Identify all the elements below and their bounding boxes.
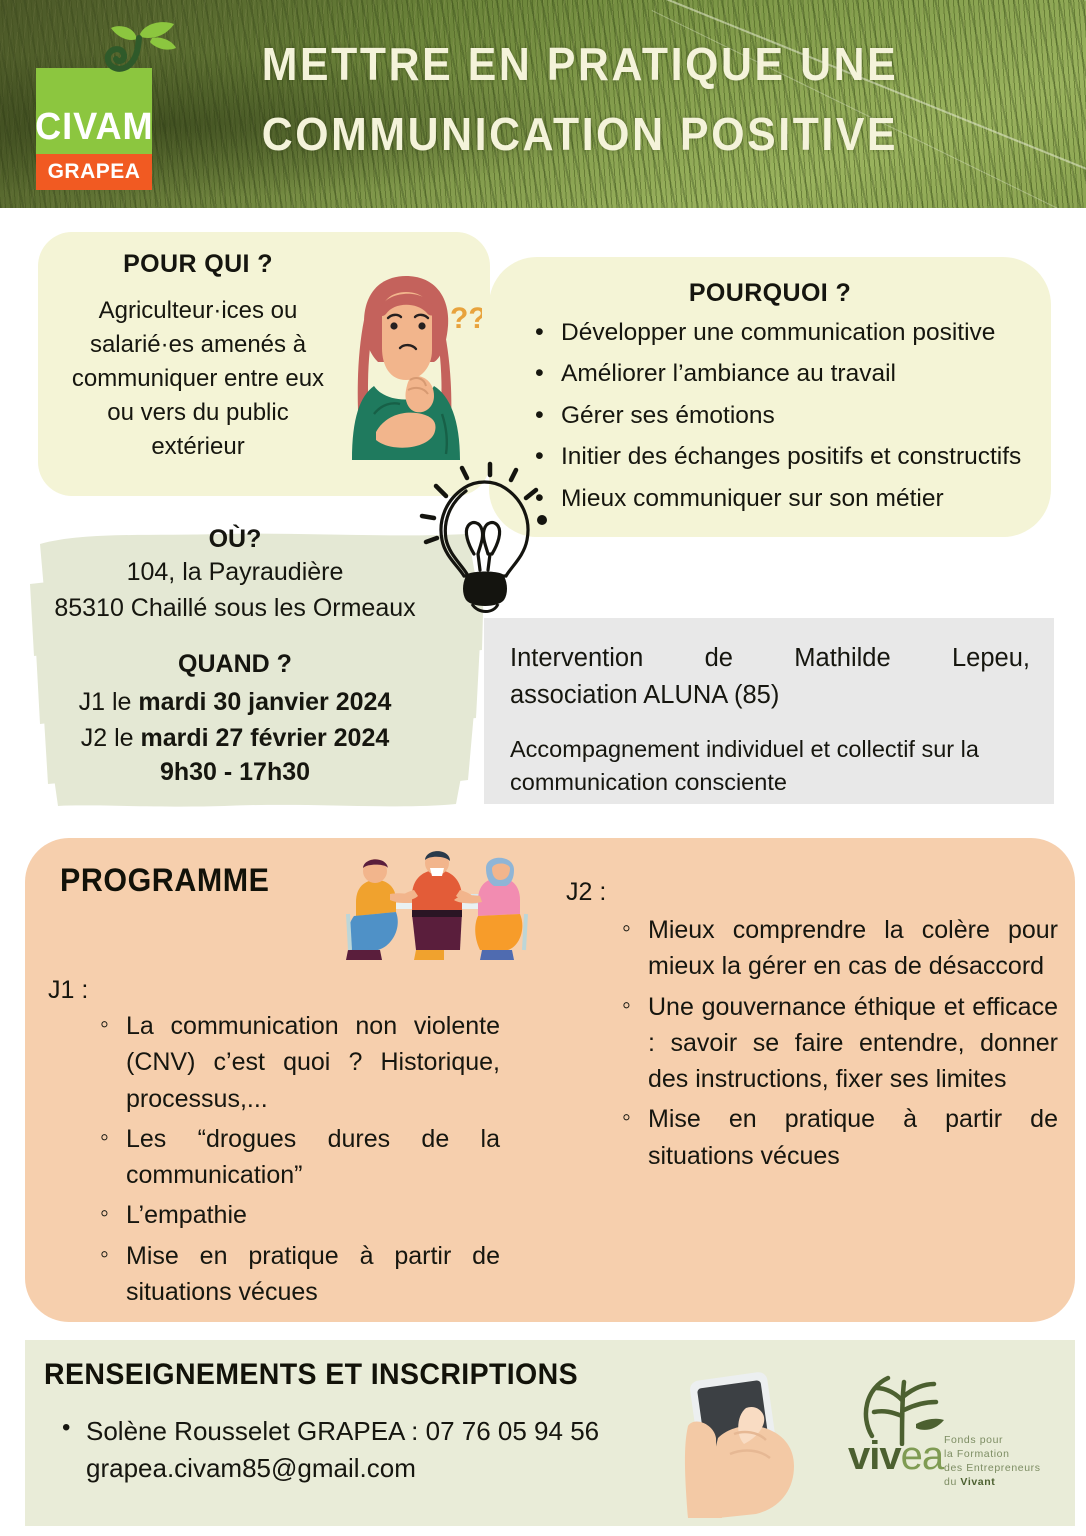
list-item: Mise en pratique à partir de situations … [622, 1101, 1058, 1174]
pour-qui-card: POUR QUI ? Agriculteur·ices ou salarié·e… [38, 232, 490, 496]
list-item: Les “drogues dures de la communication” [100, 1121, 500, 1194]
renseignements-title: RENSEIGNEMENTS ET INSCRIPTIONS [44, 1358, 578, 1392]
pourquoi-card: POURQUOI ? Développer une communication … [489, 257, 1051, 537]
intervention-card: Intervention de Mathilde Lepeu, associat… [484, 618, 1054, 804]
intervention-heading: Intervention de Mathilde Lepeu, associat… [510, 640, 1030, 713]
quand-block: QUAND ? J1 le mardi 30 janvier 2024 J2 l… [0, 650, 470, 787]
list-item: Gérer ses émotions [533, 396, 1053, 435]
list-item: L’empathie [100, 1197, 500, 1233]
list-item: La communication non violente (CNV) c’es… [100, 1008, 500, 1117]
vivea-tag-line4: du Vivant [944, 1476, 1060, 1490]
vivea-tagline: Fonds pour la Formation des Entrepreneur… [944, 1434, 1060, 1490]
list-item: Mieux comprendre la colère pour mieux la… [622, 912, 1058, 985]
pourquoi-list: Développer une communication positive Am… [533, 313, 1053, 520]
pourquoi-heading: POURQUOI ? [489, 279, 1051, 308]
logo-green-block: CIVAM [36, 68, 152, 154]
ou-address-line1: 104, la Payraudière [0, 554, 470, 590]
page-title-line2: COMMUNICATION POSITIVE [241, 100, 920, 170]
renseignements-contact-list: Solène Rousselet GRAPEA : 07 76 05 94 56… [62, 1413, 682, 1487]
lightbulb-icon [412, 458, 557, 620]
logo-sub: GRAPEA [36, 154, 152, 190]
vivea-tag-line4-prefix: du [944, 1476, 960, 1488]
intervention-line3: Accompagnement individuel et collectif s… [510, 733, 1038, 799]
vivea-wordmark: vivea [848, 1436, 943, 1476]
hand-holding-smartphone-illustration [660, 1368, 840, 1518]
quand-j1-row: J1 le mardi 30 janvier 2024 [0, 685, 470, 721]
thinking-woman-illustration: ?? [330, 264, 482, 470]
quand-j2-prefix: J2 le [81, 724, 141, 752]
ou-address-line2: 85310 Chaillé sous les Ormeaux [0, 590, 470, 626]
quand-j1-date: mardi 30 janvier 2024 [138, 688, 391, 716]
vivea-tag-line2: la Formation [944, 1448, 1060, 1462]
three-people-at-table-illustration [320, 846, 555, 968]
vivea-tag-line1: Fonds pour [944, 1434, 1060, 1448]
quand-j2-row: J2 le mardi 27 février 2024 [0, 721, 470, 757]
list-item: Mieux communiquer sur son métier [533, 479, 1053, 518]
ou-block: OÙ? 104, la Payraudière 85310 Chaillé so… [0, 525, 470, 627]
list-item: Améliorer l’ambiance au travail [533, 354, 1053, 393]
page-title-line1: METTRE EN PRATIQUE UNE [241, 30, 920, 100]
list-item: Une gouvernance éthique et efficace : sa… [622, 989, 1058, 1098]
vivea-tag-line4-bold: Vivant [960, 1476, 995, 1488]
quand-hours: 9h30 - 17h30 [0, 758, 470, 787]
programme-j2-label: J2 : [566, 878, 606, 907]
contact-name-phone: Solène Rousselet GRAPEA : 07 76 05 94 56 [86, 1416, 599, 1446]
quand-j1-prefix: J1 le [79, 688, 139, 716]
ou-heading: OÙ? [0, 525, 470, 554]
page-title: METTRE EN PRATIQUE UNE COMMUNICATION POS… [241, 30, 920, 170]
programme-j2-list: Mieux comprendre la colère pour mieux la… [622, 912, 1058, 1178]
vivea-logo: vivea Fonds pour la Formation des Entrep… [848, 1378, 1058, 1494]
programme-j1-list: La communication non violente (CNV) c’es… [100, 1008, 500, 1314]
list-item: Initier des échanges positifs et constru… [533, 437, 1053, 476]
vivea-tag-line3: des Entrepreneurs [944, 1462, 1060, 1476]
vivea-word-bold: viv [848, 1434, 901, 1478]
pour-qui-text: Agriculteur·ices ou salarié·es amenés à … [58, 294, 338, 464]
pour-qui-heading: POUR QUI ? [58, 250, 338, 279]
list-item: Mise en pratique à partir de situations … [100, 1238, 500, 1311]
programme-j1-label: J1 : [48, 976, 88, 1005]
list-item: Solène Rousselet GRAPEA : 07 76 05 94 56… [62, 1413, 682, 1487]
intervention-line1: Intervention de Mathilde Lepeu, [510, 640, 1030, 677]
civam-grapea-logo: CIVAM GRAPEA [36, 68, 152, 190]
logo-name: CIVAM [35, 108, 153, 154]
sprout-icon [92, 18, 188, 80]
vivea-word-light: ea [901, 1434, 944, 1478]
svg-text:??: ?? [450, 302, 482, 335]
programme-title: PROGRAMME [60, 862, 269, 899]
quand-heading: QUAND ? [0, 650, 470, 679]
intervention-line2: association ALUNA (85) [510, 677, 1030, 714]
contact-email[interactable]: grapea.civam85@gmail.com [86, 1453, 416, 1483]
poster-root: METTRE EN PRATIQUE UNE COMMUNICATION POS… [0, 0, 1086, 1536]
list-item: Développer une communication positive [533, 313, 1053, 352]
quand-j2-date: mardi 27 février 2024 [140, 724, 389, 752]
